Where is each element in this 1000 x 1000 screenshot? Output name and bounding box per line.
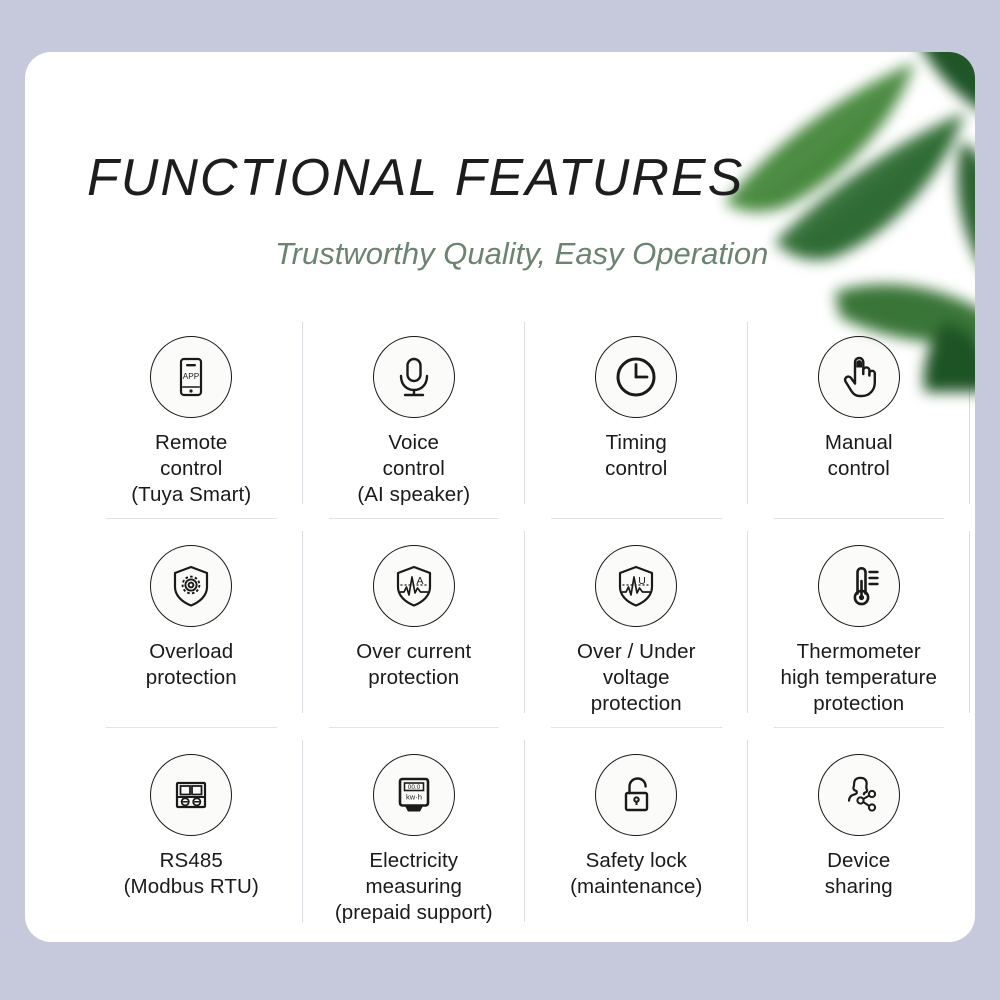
- app-icon-text: APP: [183, 372, 200, 381]
- feature-label: Manual control: [825, 430, 893, 482]
- shield-voltage-icon: U: [595, 545, 677, 627]
- page-subtitle: Trustworthy Quality, Easy Operation: [275, 236, 768, 272]
- shield-gear-icon: [150, 545, 232, 627]
- voltage-unit-text: U: [638, 575, 646, 587]
- feature-item-safety-lock[interactable]: Safety lock (maintenance): [525, 728, 748, 936]
- feature-label: Voice control (AI speaker): [357, 430, 470, 508]
- terminal-block-icon: [150, 754, 232, 836]
- feature-label: Device sharing: [825, 848, 893, 900]
- feature-label: Electricity measuring (prepaid support): [335, 848, 493, 926]
- microphone-icon: [373, 336, 455, 418]
- feature-label: Timing control: [605, 430, 667, 482]
- feature-label: Safety lock (maintenance): [570, 848, 702, 900]
- feature-item-over-current-protection[interactable]: A Over current protection: [303, 519, 526, 727]
- feature-label: Over current protection: [356, 639, 471, 691]
- feature-label: Overload protection: [146, 639, 237, 691]
- feature-card: FUNCTIONAL FEATURES Trustworthy Quality,…: [25, 52, 975, 942]
- screenshot-root: FUNCTIONAL FEATURES Trustworthy Quality,…: [0, 0, 1000, 1000]
- feature-item-electricity-measuring[interactable]: 00.0 kw·h Electricity measuring (prepaid…: [303, 728, 526, 936]
- feature-item-device-sharing[interactable]: Device sharing: [748, 728, 971, 936]
- feature-label: Thermometer high temperature protection: [780, 639, 937, 717]
- page-title: FUNCTIONAL FEATURES: [87, 148, 744, 208]
- feature-item-overload-protection[interactable]: Overload protection: [80, 519, 303, 727]
- meter-value-text: 00.0: [408, 784, 421, 791]
- meter-unit-text: kw·h: [406, 793, 422, 802]
- shield-current-icon: A: [373, 545, 455, 627]
- hand-touch-icon: [818, 336, 900, 418]
- feature-label: Over / Under voltage protection: [577, 639, 696, 717]
- feature-item-timing-control[interactable]: Timing control: [525, 310, 748, 518]
- feature-item-thermometer-protection[interactable]: Thermometer high temperature protection: [748, 519, 971, 727]
- features-grid: APP Remote control (Tuya Smart) Voice co…: [80, 310, 970, 936]
- feature-label: RS485 (Modbus RTU): [124, 848, 259, 900]
- feature-item-voice-control[interactable]: Voice control (AI speaker): [303, 310, 526, 518]
- current-unit-text: A: [416, 575, 423, 587]
- smartphone-app-icon: APP: [150, 336, 232, 418]
- open-padlock-icon: [595, 754, 677, 836]
- clock-icon: [595, 336, 677, 418]
- feature-item-manual-control[interactable]: Manual control: [748, 310, 971, 518]
- feature-item-remote-control[interactable]: APP Remote control (Tuya Smart): [80, 310, 303, 518]
- feature-item-over-under-voltage-protection[interactable]: U Over / Under voltage protection: [525, 519, 748, 727]
- thermometer-icon: [818, 545, 900, 627]
- device-sharing-icon: [818, 754, 900, 836]
- feature-item-rs485[interactable]: RS485 (Modbus RTU): [80, 728, 303, 936]
- energy-meter-icon: 00.0 kw·h: [373, 754, 455, 836]
- feature-label: Remote control (Tuya Smart): [131, 430, 251, 508]
